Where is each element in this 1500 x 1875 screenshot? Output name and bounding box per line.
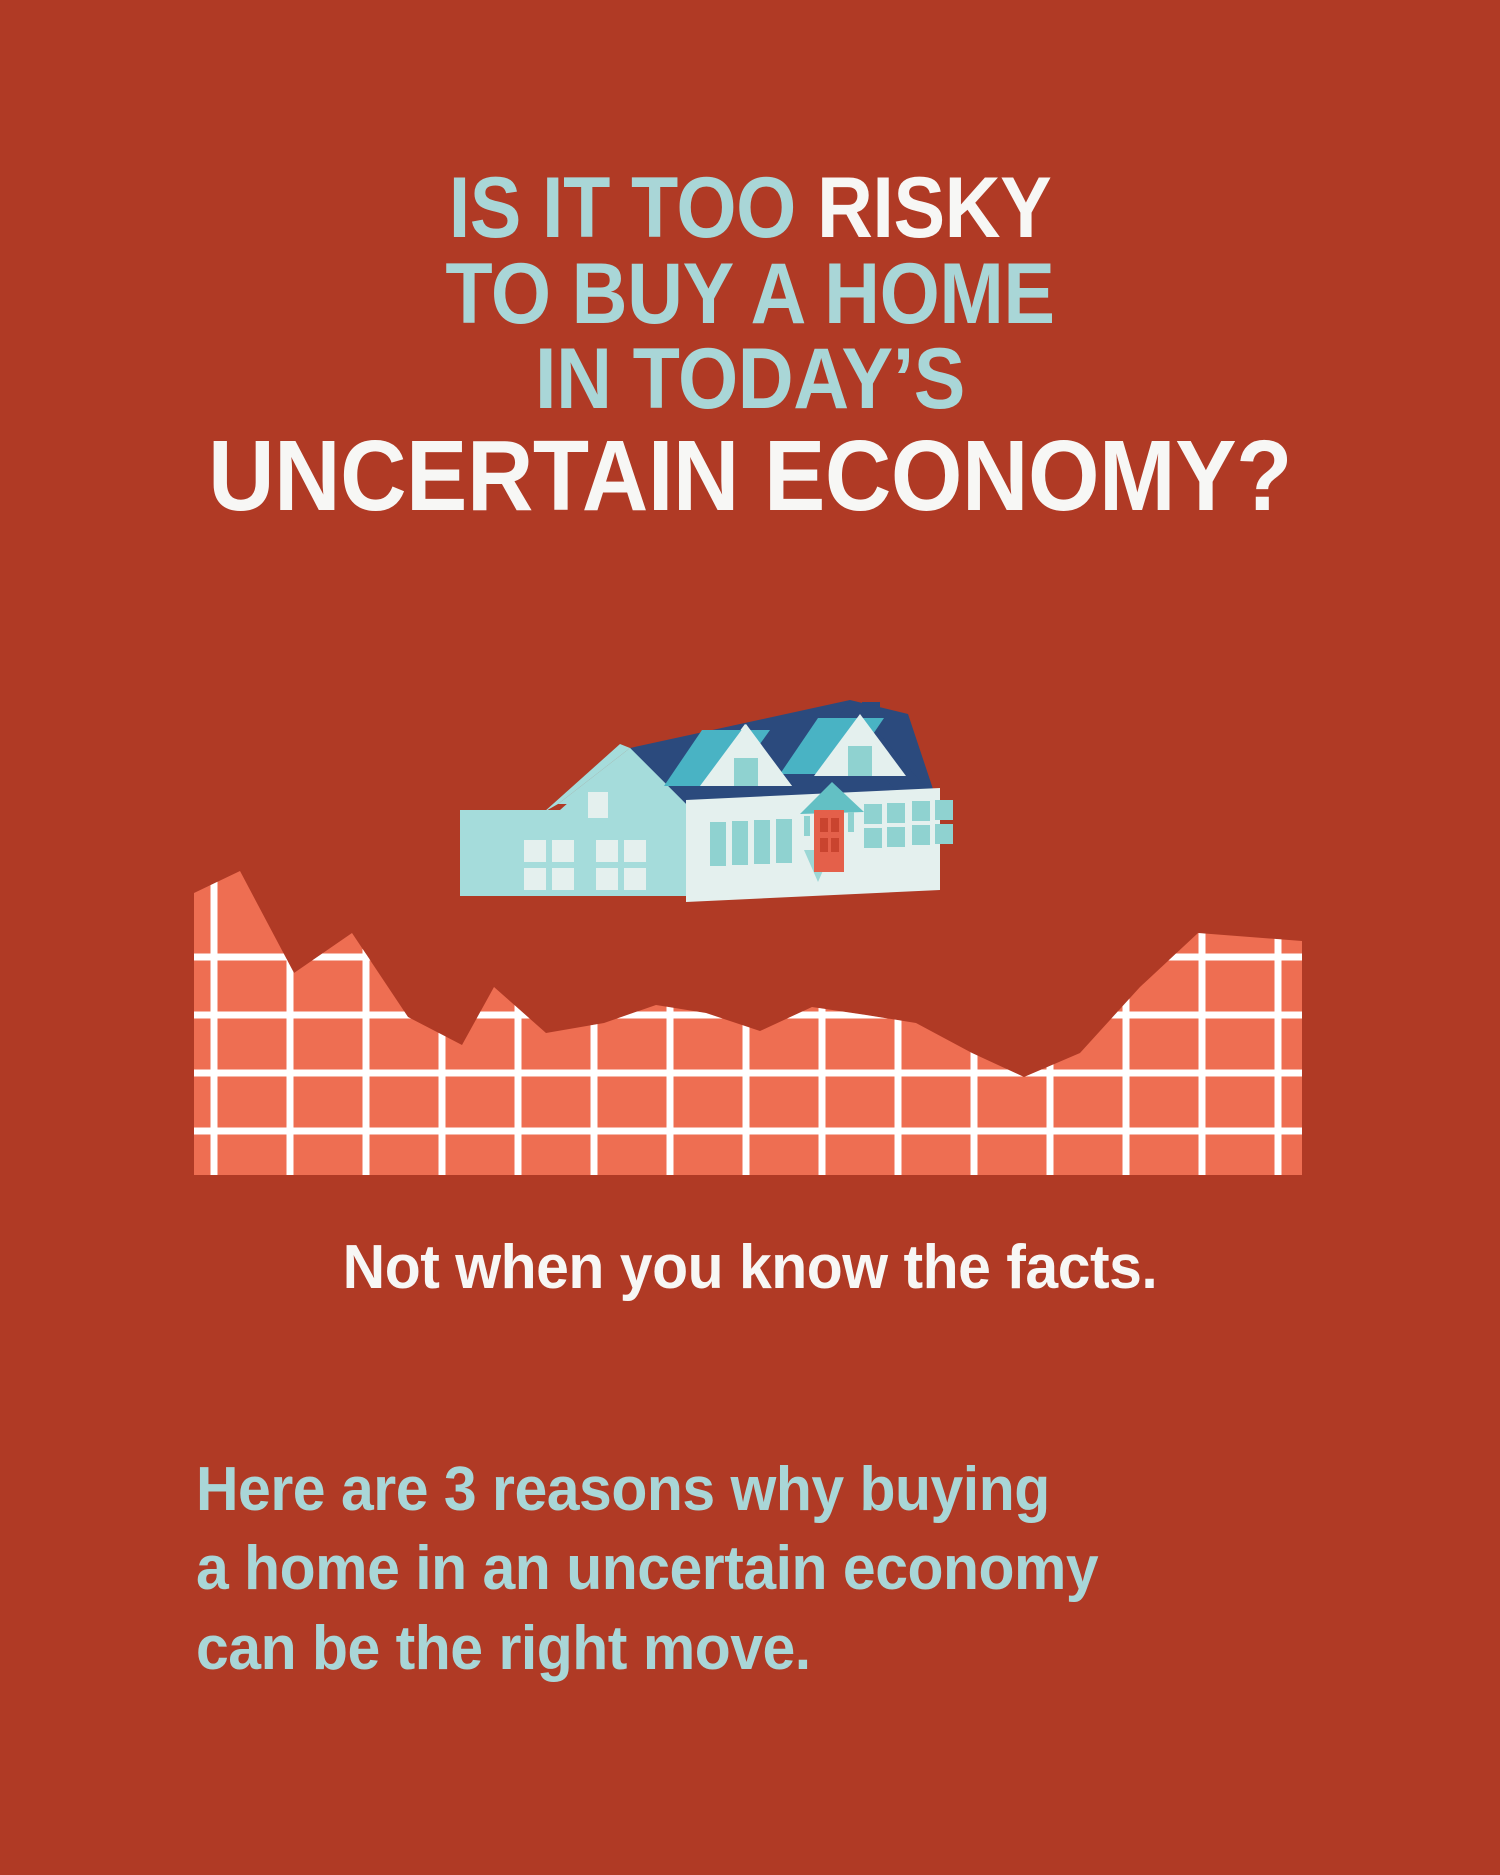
dormer-left-window [734,758,758,786]
front-door [814,810,844,872]
page-title: IS IT TOO RISKY TO BUY A HOME IN TODAY’S… [0,168,1500,524]
headline-line-4: UNCERTAIN ECONOMY? [60,429,1440,524]
house-illustration [440,700,1060,960]
body-copy-line-2: a home in an uncertain economy [196,1529,1279,1608]
subline-text: Not when you know the facts. [38,1232,1463,1303]
door-sidelight-right [848,812,854,832]
headline-line-1-blue: IS IT TOO [449,160,817,256]
headline-line-1: IS IT TOO RISKY [75,168,1425,250]
headline-line-1-white: RISKY [817,160,1051,256]
gable-attic-window [588,792,608,818]
poster-canvas: IS IT TOO RISKY TO BUY A HOME IN TODAY’S… [0,0,1500,1875]
house-svg [440,700,1060,960]
door-sidelight-left [804,816,810,836]
dormer-right-window [848,746,872,776]
body-copy-line-3: can be the right move. [196,1609,1279,1688]
body-copy-line-1: Here are 3 reasons why buying [196,1450,1279,1529]
headline-line-3: IN TODAY’S [75,339,1425,421]
headline-line-2: TO BUY A HOME [75,254,1425,336]
body-copy: Here are 3 reasons why buying a home in … [196,1450,1279,1688]
